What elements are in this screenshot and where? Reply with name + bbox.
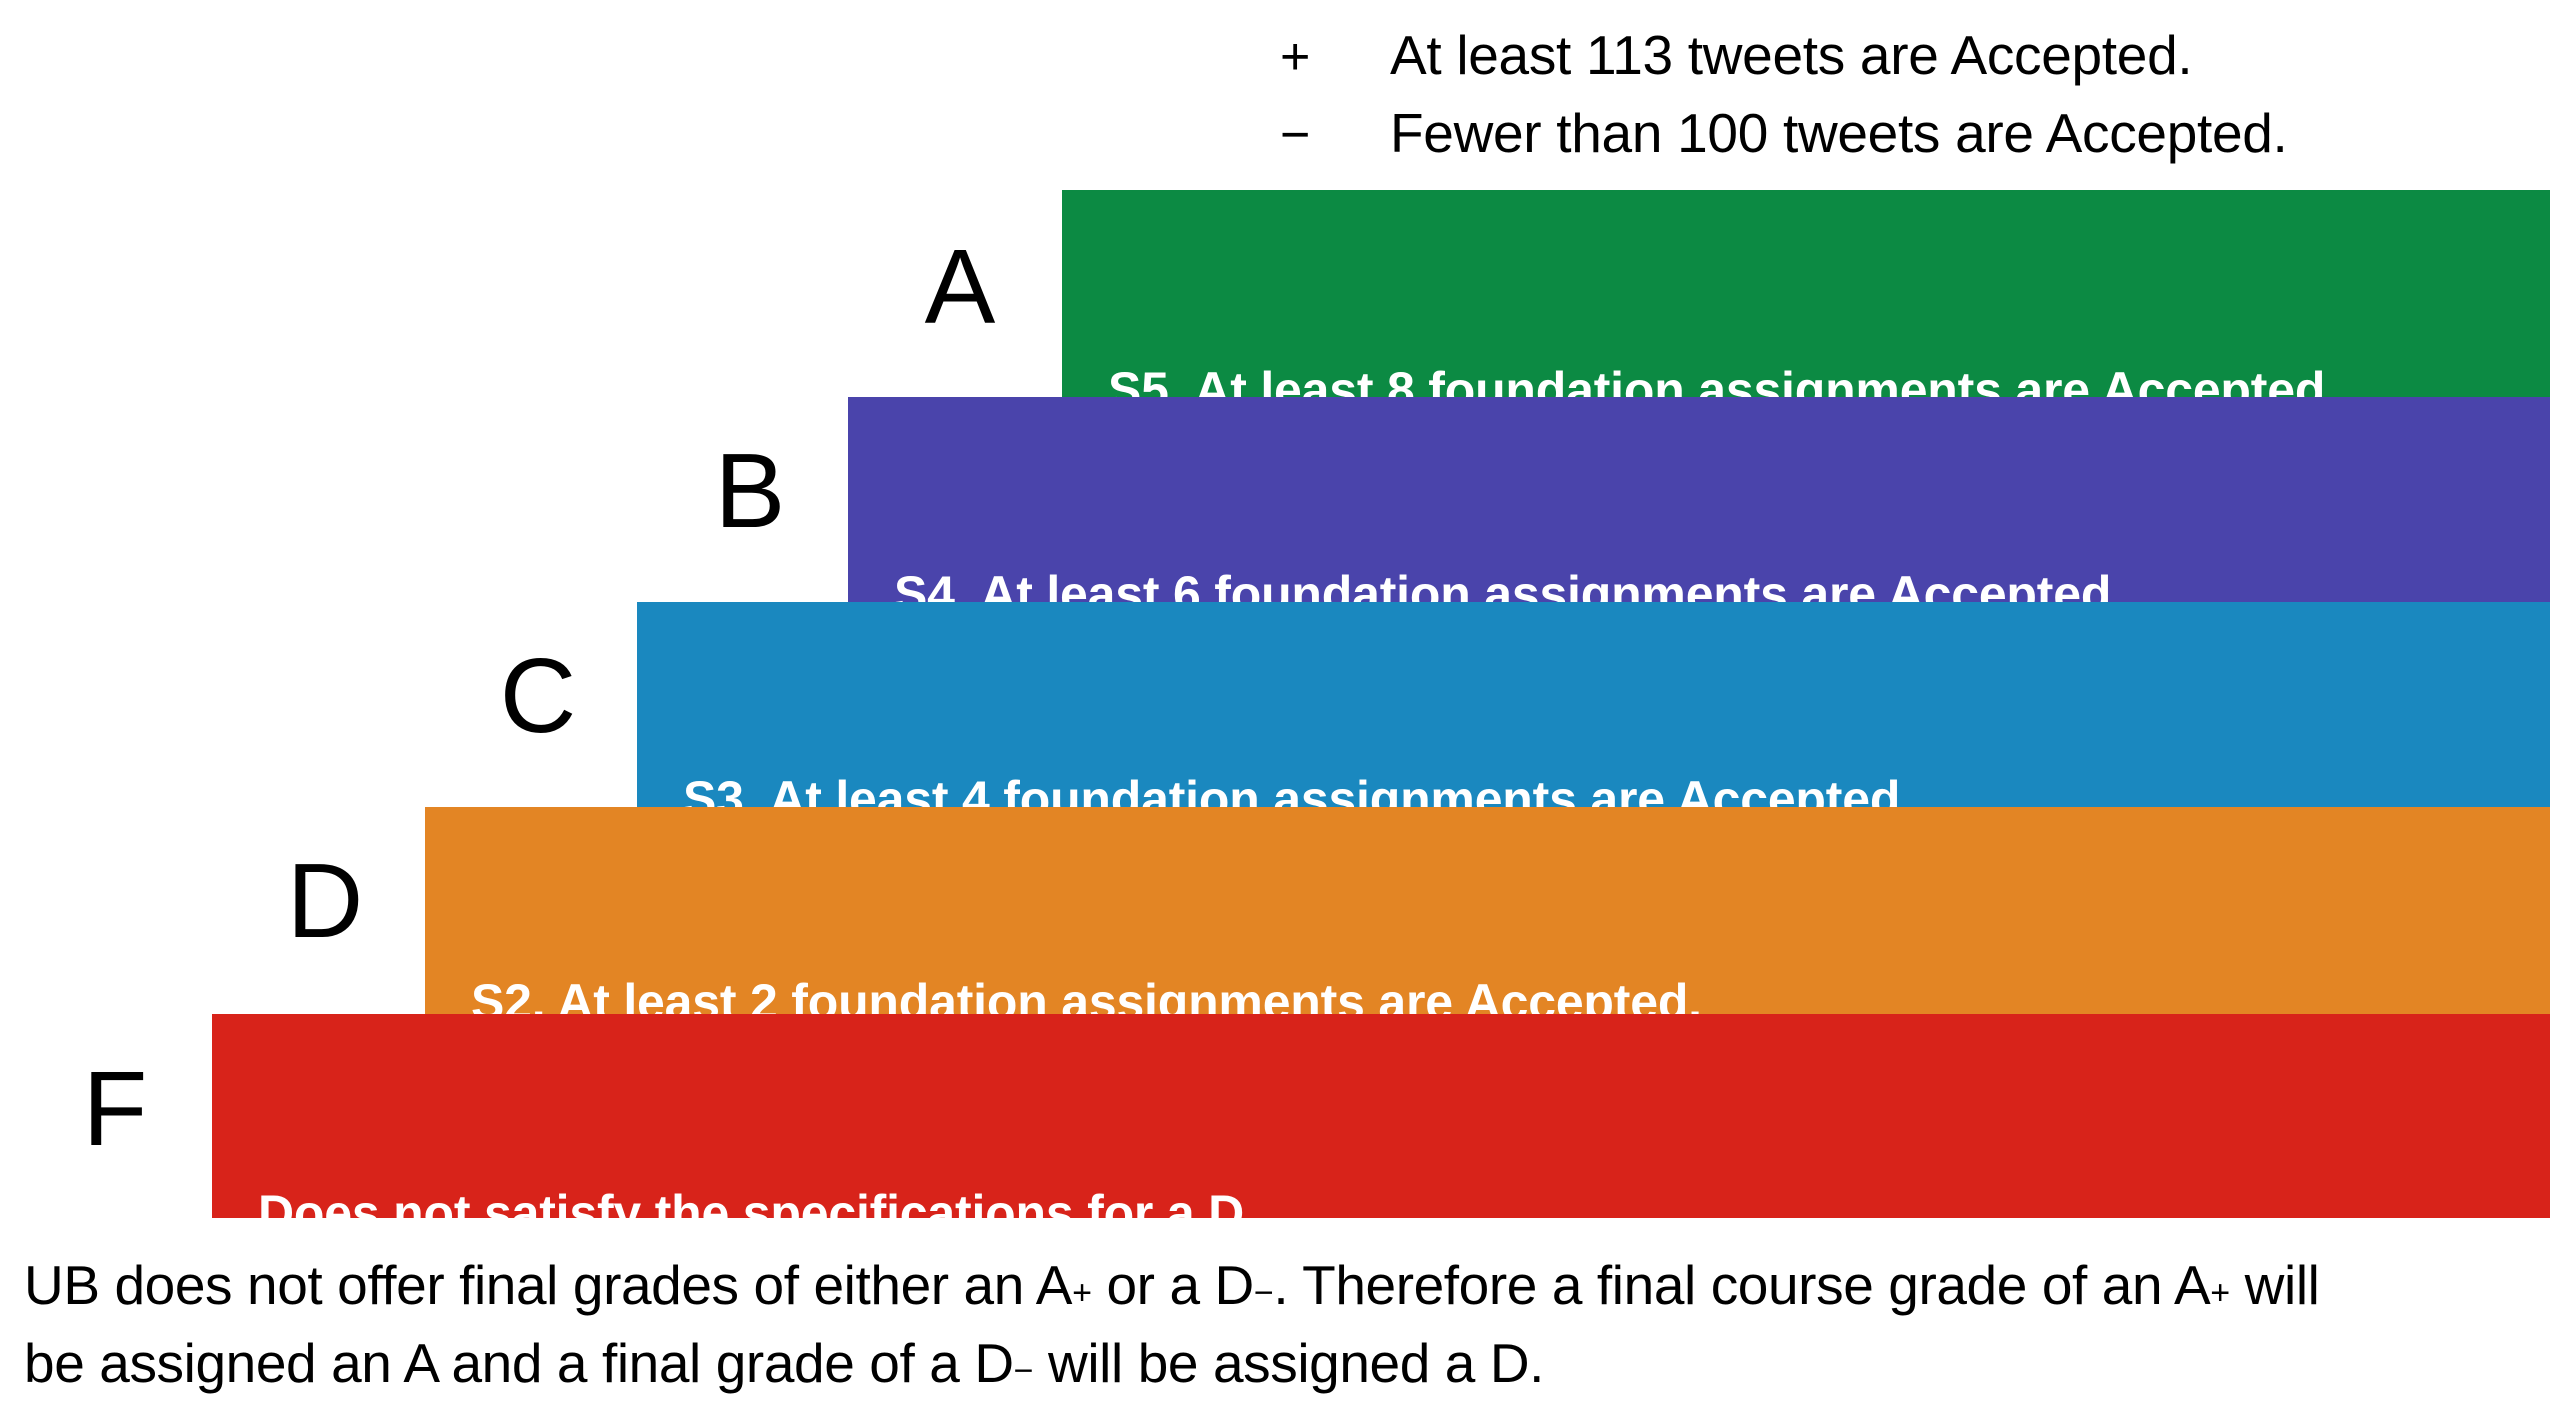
- footer-text: will be assigned a D.: [1033, 1332, 1544, 1394]
- footer-text: will: [2230, 1254, 2320, 1316]
- grade-band-d: S2. At least 2 foundation assignments ar…: [425, 807, 2550, 1014]
- superscript-plus: +: [1072, 1274, 1092, 1312]
- footer-line-1: UB does not offer final grades of either…: [24, 1246, 2534, 1324]
- grade-letter-d: D: [265, 848, 385, 954]
- grade-letter-f: F: [55, 1056, 175, 1162]
- footer-line-2: be assigned an A and a final grade of a …: [24, 1324, 2534, 1402]
- spec-line: Does not satisfy the specifications for …: [258, 1180, 1258, 1246]
- grade-letter-a: A: [900, 234, 1020, 340]
- superscript-plus: +: [2210, 1274, 2230, 1312]
- superscript-minus: −: [1014, 1352, 1034, 1390]
- grade-letter-c: C: [478, 643, 598, 749]
- grade-band-a: S5. At least 8 foundation assignments ar…: [1062, 190, 2550, 397]
- footer-text: or a D: [1092, 1254, 1254, 1316]
- grade-band-c: S3. At least 4 foundation assignments ar…: [637, 602, 2550, 807]
- superscript-minus: −: [1254, 1274, 1274, 1312]
- grade-band-b: S4. At least 6 foundation assignments ar…: [848, 397, 2550, 602]
- grade-letter-b: B: [690, 438, 810, 544]
- footer-text: . Therefore a final course grade of an A: [1273, 1254, 2210, 1316]
- footer-text: be assigned an A and a final grade of a …: [24, 1332, 1014, 1394]
- grade-staircase: S5. At least 8 foundation assignments ar…: [0, 0, 2550, 1218]
- footer-text: UB does not offer final grades of either…: [24, 1254, 1072, 1316]
- grade-band-f: Does not satisfy the specifications for …: [212, 1014, 2550, 1218]
- footer-note: UB does not offer final grades of either…: [24, 1246, 2534, 1402]
